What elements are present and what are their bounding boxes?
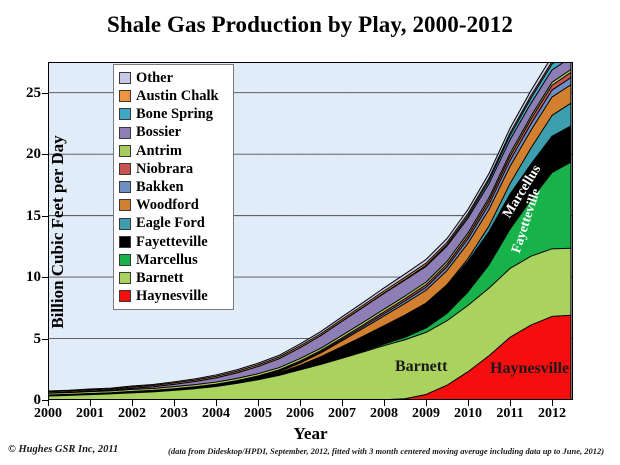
x-tick-mark [174, 400, 175, 406]
legend-item: Woodford [119, 196, 228, 214]
legend-item-label: Niobrara [136, 162, 193, 177]
legend-item: Fayetteville [119, 233, 228, 251]
legend-swatch-icon [119, 218, 131, 230]
legend-item: Haynesville [119, 287, 228, 305]
x-tick-mark [552, 400, 553, 406]
annotation-barnett: Barnett [395, 358, 447, 376]
source-note: (data from Didesktop/HPDI, September, 20… [168, 446, 604, 456]
legend-item-label: Austin Chalk [136, 89, 219, 104]
legend-item: Bakken [119, 178, 228, 196]
y-tick-mark [42, 277, 48, 278]
legend-swatch-icon [119, 181, 131, 193]
x-tick-label: 2006 [278, 407, 322, 421]
x-tick-label: 2000 [26, 407, 70, 421]
legend-item-label: Eagle Ford [136, 216, 205, 231]
legend-item: Austin Chalk [119, 87, 228, 105]
x-tick-mark [300, 400, 301, 406]
legend: OtherAustin ChalkBone SpringBossierAntri… [113, 64, 234, 310]
x-tick-label: 2010 [446, 407, 490, 421]
y-tick-label: 15 [15, 209, 41, 224]
legend-swatch-icon [119, 254, 131, 266]
x-tick-label: 2005 [236, 407, 280, 421]
legend-item: Other [119, 69, 228, 87]
chart-page: Shale Gas Production by Play, 2000-2012 … [0, 0, 620, 465]
legend-swatch-icon [119, 108, 131, 120]
y-tick-label: 5 [15, 332, 41, 347]
y-tick-label: 25 [15, 86, 41, 101]
legend-item-label: Barnett [136, 271, 184, 286]
legend-item-label: Bossier [136, 125, 181, 140]
legend-item: Marcellus [119, 251, 228, 269]
legend-item-label: Bakken [136, 180, 184, 195]
legend-item-label: Woodford [136, 198, 199, 213]
y-tick-mark [42, 154, 48, 155]
y-tick-label: 10 [15, 270, 41, 285]
legend-swatch-icon [119, 127, 131, 139]
x-tick-mark [132, 400, 133, 406]
x-tick-mark [48, 400, 49, 406]
x-tick-mark [468, 400, 469, 406]
x-tick-label: 2002 [110, 407, 154, 421]
y-tick-mark [42, 339, 48, 340]
legend-item-label: Fayetteville [136, 235, 208, 250]
legend-swatch-icon [119, 236, 131, 248]
x-tick-label: 2012 [530, 407, 574, 421]
x-tick-label: 2004 [194, 407, 238, 421]
legend-item: Niobrara [119, 160, 228, 178]
x-tick-mark [342, 400, 343, 406]
legend-item-label: Antrim [136, 144, 182, 159]
legend-swatch-icon [119, 199, 131, 211]
x-tick-label: 2011 [488, 407, 532, 421]
x-tick-label: 2008 [362, 407, 406, 421]
y-axis-label: Billion Cubic Feet per Day [48, 72, 68, 392]
x-tick-label: 2009 [404, 407, 448, 421]
x-tick-label: 2003 [152, 407, 196, 421]
copyright-notice: © Hughes GSR Inc, 2011 [8, 444, 118, 455]
chart-title: Shale Gas Production by Play, 2000-2012 [0, 12, 620, 38]
legend-item-label: Bone Spring [136, 107, 213, 122]
legend-swatch-icon [119, 163, 131, 175]
legend-swatch-icon [119, 90, 131, 102]
legend-swatch-icon [119, 145, 131, 157]
legend-item: Bossier [119, 124, 228, 142]
legend-swatch-icon [119, 290, 131, 302]
y-tick-mark [42, 93, 48, 94]
legend-item-label: Other [136, 71, 173, 86]
legend-item: Bone Spring [119, 105, 228, 123]
annotation-haynesville: Haynesville [490, 360, 569, 378]
x-tick-mark [426, 400, 427, 406]
x-tick-mark [90, 400, 91, 406]
legend-item-label: Marcellus [136, 253, 198, 268]
x-tick-mark [258, 400, 259, 406]
legend-item: Barnett [119, 269, 228, 287]
y-tick-label: 20 [15, 147, 41, 162]
legend-item: Eagle Ford [119, 215, 228, 233]
x-tick-label: 2001 [68, 407, 112, 421]
y-tick-mark [42, 216, 48, 217]
legend-swatch-icon [119, 72, 131, 84]
legend-swatch-icon [119, 272, 131, 284]
x-tick-mark [510, 400, 511, 406]
x-axis-label: Year [48, 424, 573, 444]
legend-item-label: Haynesville [136, 289, 208, 304]
x-tick-mark [384, 400, 385, 406]
x-tick-mark [216, 400, 217, 406]
legend-item: Antrim [119, 142, 228, 160]
x-tick-label: 2007 [320, 407, 364, 421]
